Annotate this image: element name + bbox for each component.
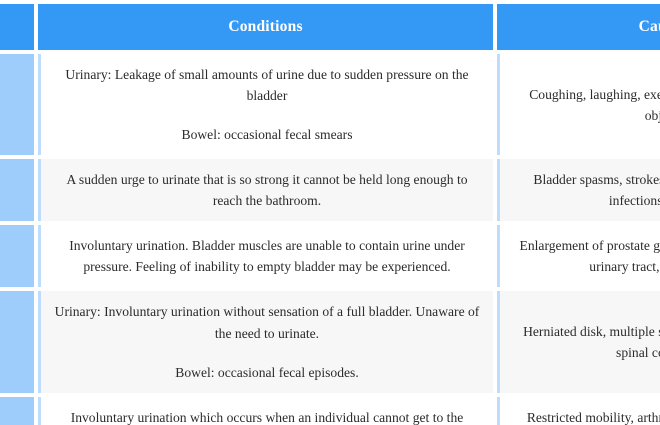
row-causes-cell: Restricted mobility, arthritis, neurolog… [497,397,660,425]
table-header: Conditions Causes [0,4,660,50]
row-causes-cell: Coughing, laughing, exercising, or movin… [497,54,660,155]
row-causes-cell: Herniated disk, multiple sclerosis, cere… [497,291,660,392]
condition-paragraph: Bowel: occasional fecal episodes. [53,362,481,383]
row-type-label: Reflex [0,291,34,392]
condition-paragraph: Urinary: Involuntary urination without s… [53,301,481,343]
table-body: Stress Urinary: Leakage of small amounts… [0,54,660,425]
cause-paragraph: Enlargement of prostate gland, blockage … [512,235,660,277]
row-conditions-cell: Urinary: Leakage of small amounts of uri… [38,54,493,155]
condition-paragraph: Involuntary urination. Bladder muscles a… [53,235,481,277]
table-row: Reflex Urinary: Involuntary urination wi… [0,291,660,392]
condition-paragraph: Involuntary urination which occurs when … [53,407,481,425]
cause-paragraph: Bladder spasms, strokes, dementia, urina… [512,169,660,211]
row-conditions-cell: Involuntary urination. Bladder muscles a… [38,225,493,287]
row-conditions-cell: Involuntary urination which occurs when … [38,397,493,425]
row-type-label: Urge [0,159,34,221]
incontinence-types-table: Conditions Causes Stress Urinary: Leakag… [0,0,660,425]
row-causes-cell: Bladder spasms, strokes, dementia, urina… [497,159,660,221]
cause-paragraph: Herniated disk, multiple sclerosis, cere… [512,321,660,363]
row-conditions-cell: Urinary: Involuntary urination without s… [38,291,493,392]
condition-paragraph: Bowel: occasional fecal smears [53,124,481,145]
header-row: Conditions Causes [0,4,660,50]
row-causes-cell: Enlargement of prostate gland, blockage … [497,225,660,287]
table-row: Functional Involuntary urination which o… [0,397,660,425]
column-header-type [0,4,34,50]
condition-paragraph: A sudden urge to urinate that is so stro… [53,169,481,211]
column-header-conditions: Conditions [38,4,493,50]
cause-paragraph: Coughing, laughing, exercising, or movin… [512,84,660,126]
table-row: Stress Urinary: Leakage of small amounts… [0,54,660,155]
row-conditions-cell: A sudden urge to urinate that is so stro… [38,159,493,221]
condition-paragraph: Urinary: Leakage of small amounts of uri… [53,64,481,106]
table-viewport: Conditions Causes Stress Urinary: Leakag… [0,0,660,425]
column-header-causes: Causes [497,4,660,50]
row-type-label: Stress [0,54,34,155]
row-type-label: Functional [0,397,34,425]
table-row: Overflow Involuntary urination. Bladder … [0,225,660,287]
cause-paragraph: Restricted mobility, arthritis, neurolog… [512,407,660,425]
row-type-label: Overflow [0,225,34,287]
table-row: Urge A sudden urge to urinate that is so… [0,159,660,221]
